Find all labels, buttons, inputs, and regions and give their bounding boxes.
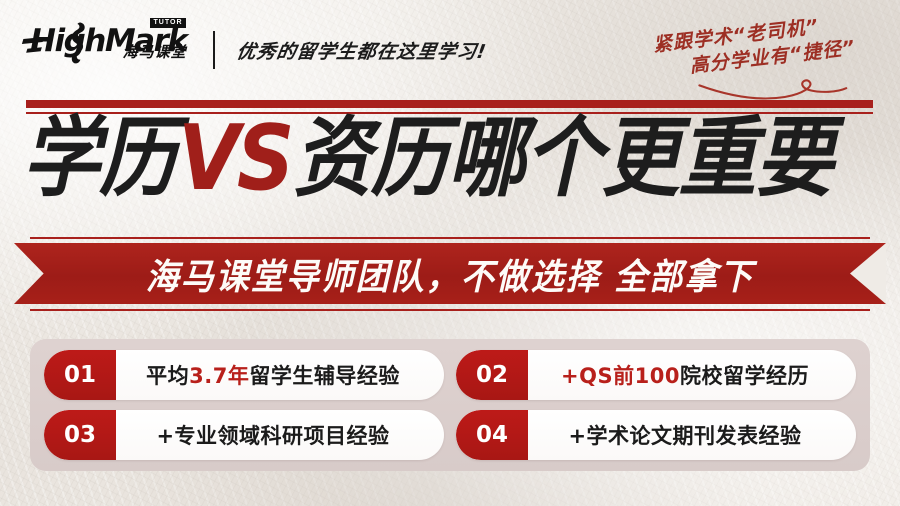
- brand-header: HighMark TUTOR 海马课堂 优秀的留学生都在这里学习!: [30, 24, 486, 76]
- ribbon-rule-bottom: [30, 309, 870, 311]
- brand-tagline: 优秀的留学生都在这里学习!: [234, 37, 488, 64]
- feature-number-badge: 01: [44, 350, 116, 400]
- feature-label: +专业领域科研项目经验: [116, 420, 444, 450]
- page-title: 学历VS资历哪个更重要: [22, 106, 882, 211]
- promo-poster: HighMark TUTOR 海马课堂 优秀的留学生都在这里学习! 紧跟学术“老…: [0, 0, 900, 506]
- feature-number-badge: 04: [456, 410, 528, 460]
- header-divider: [213, 31, 215, 69]
- seahorse-icon: [70, 21, 87, 65]
- feature-post: +专业领域科研项目经验: [156, 424, 389, 448]
- highmark-logo: HighMark TUTOR 海马课堂: [30, 24, 187, 76]
- feature-panel: 01 平均3.7年留学生辅导经验 02 +QS前100院校留学经历 03 +专业…: [30, 339, 870, 471]
- ribbon-rule-top: [30, 237, 870, 239]
- feature-post: +学术论文期刊发表经验: [568, 424, 801, 448]
- feature-post: 留学生辅导经验: [249, 364, 400, 388]
- feature-number-badge: 03: [44, 410, 116, 460]
- headline-right: 资历哪个更重要: [294, 111, 833, 207]
- feature-card-03: 03 +专业领域科研项目经验: [44, 410, 444, 460]
- feature-card-04: 04 +学术论文期刊发表经验: [456, 410, 856, 460]
- logo-wordmark-text: HighMark TUTOR 海马课堂: [30, 24, 187, 58]
- feature-highlight: +QS前100: [561, 364, 680, 388]
- feature-label: +学术论文期刊发表经验: [528, 420, 856, 450]
- brand-name-cn: 海马课堂: [123, 44, 187, 60]
- ribbon-banner: 海马课堂导师团队，不做选择 全部拿下: [14, 243, 886, 304]
- feature-label: 平均3.7年留学生辅导经验: [116, 360, 444, 390]
- tutor-badge-label: TUTOR: [150, 18, 186, 28]
- feature-pre: 平均: [146, 364, 189, 388]
- feature-number-badge: 02: [456, 350, 528, 400]
- headline-left: 学历: [22, 111, 176, 207]
- headline-vs: VS: [176, 111, 294, 207]
- feature-label: +QS前100院校留学经历: [528, 360, 856, 390]
- feature-post: 院校留学经历: [680, 364, 809, 388]
- ribbon-text: 海马课堂导师团队，不做选择 全部拿下: [146, 248, 755, 300]
- feature-card-02: 02 +QS前100院校留学经历: [456, 350, 856, 400]
- feature-highlight: 3.7年: [189, 364, 249, 388]
- feature-card-01: 01 平均3.7年留学生辅导经验: [44, 350, 444, 400]
